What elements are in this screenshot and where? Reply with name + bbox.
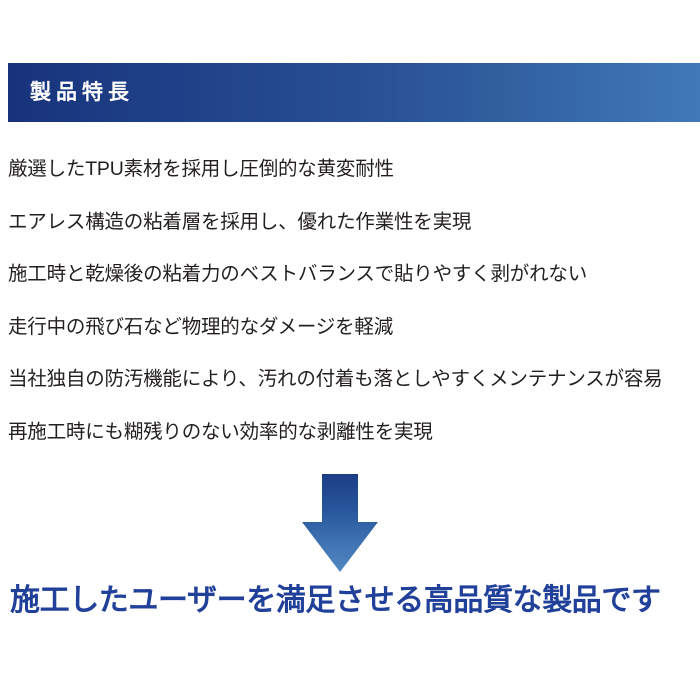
feature-item: 走行中の飛び石など物理的なダメージを軽減: [8, 301, 698, 354]
down-arrow-icon: [300, 472, 380, 574]
closing-headline: 施工したユーザーを満足させる高品質な製品です: [10, 582, 700, 620]
product-features-page: 製品特長 厳選したTPU素材を採用し圧倒的な黄変耐性 エアレス構造の粘着層を採用…: [0, 0, 700, 700]
feature-item: 施工時と乾燥後の粘着力のベストバランスで貼りやすく剥がれない: [8, 248, 698, 301]
feature-item: 厳選したTPU素材を採用し圧倒的な黄変耐性: [8, 143, 698, 196]
section-title: 製品特長: [30, 82, 134, 103]
feature-item: 当社独自の防汚機能により、汚れの付着も落としやすくメンテナンスが容易: [8, 353, 698, 406]
section-banner: 製品特長: [8, 63, 700, 122]
feature-item: 再施工時にも糊残りのない効率的な剥離性を実現: [8, 406, 698, 459]
feature-list: 厳選したTPU素材を採用し圧倒的な黄変耐性 エアレス構造の粘着層を採用し、優れた…: [8, 143, 698, 458]
feature-item: エアレス構造の粘着層を採用し、優れた作業性を実現: [8, 196, 698, 249]
